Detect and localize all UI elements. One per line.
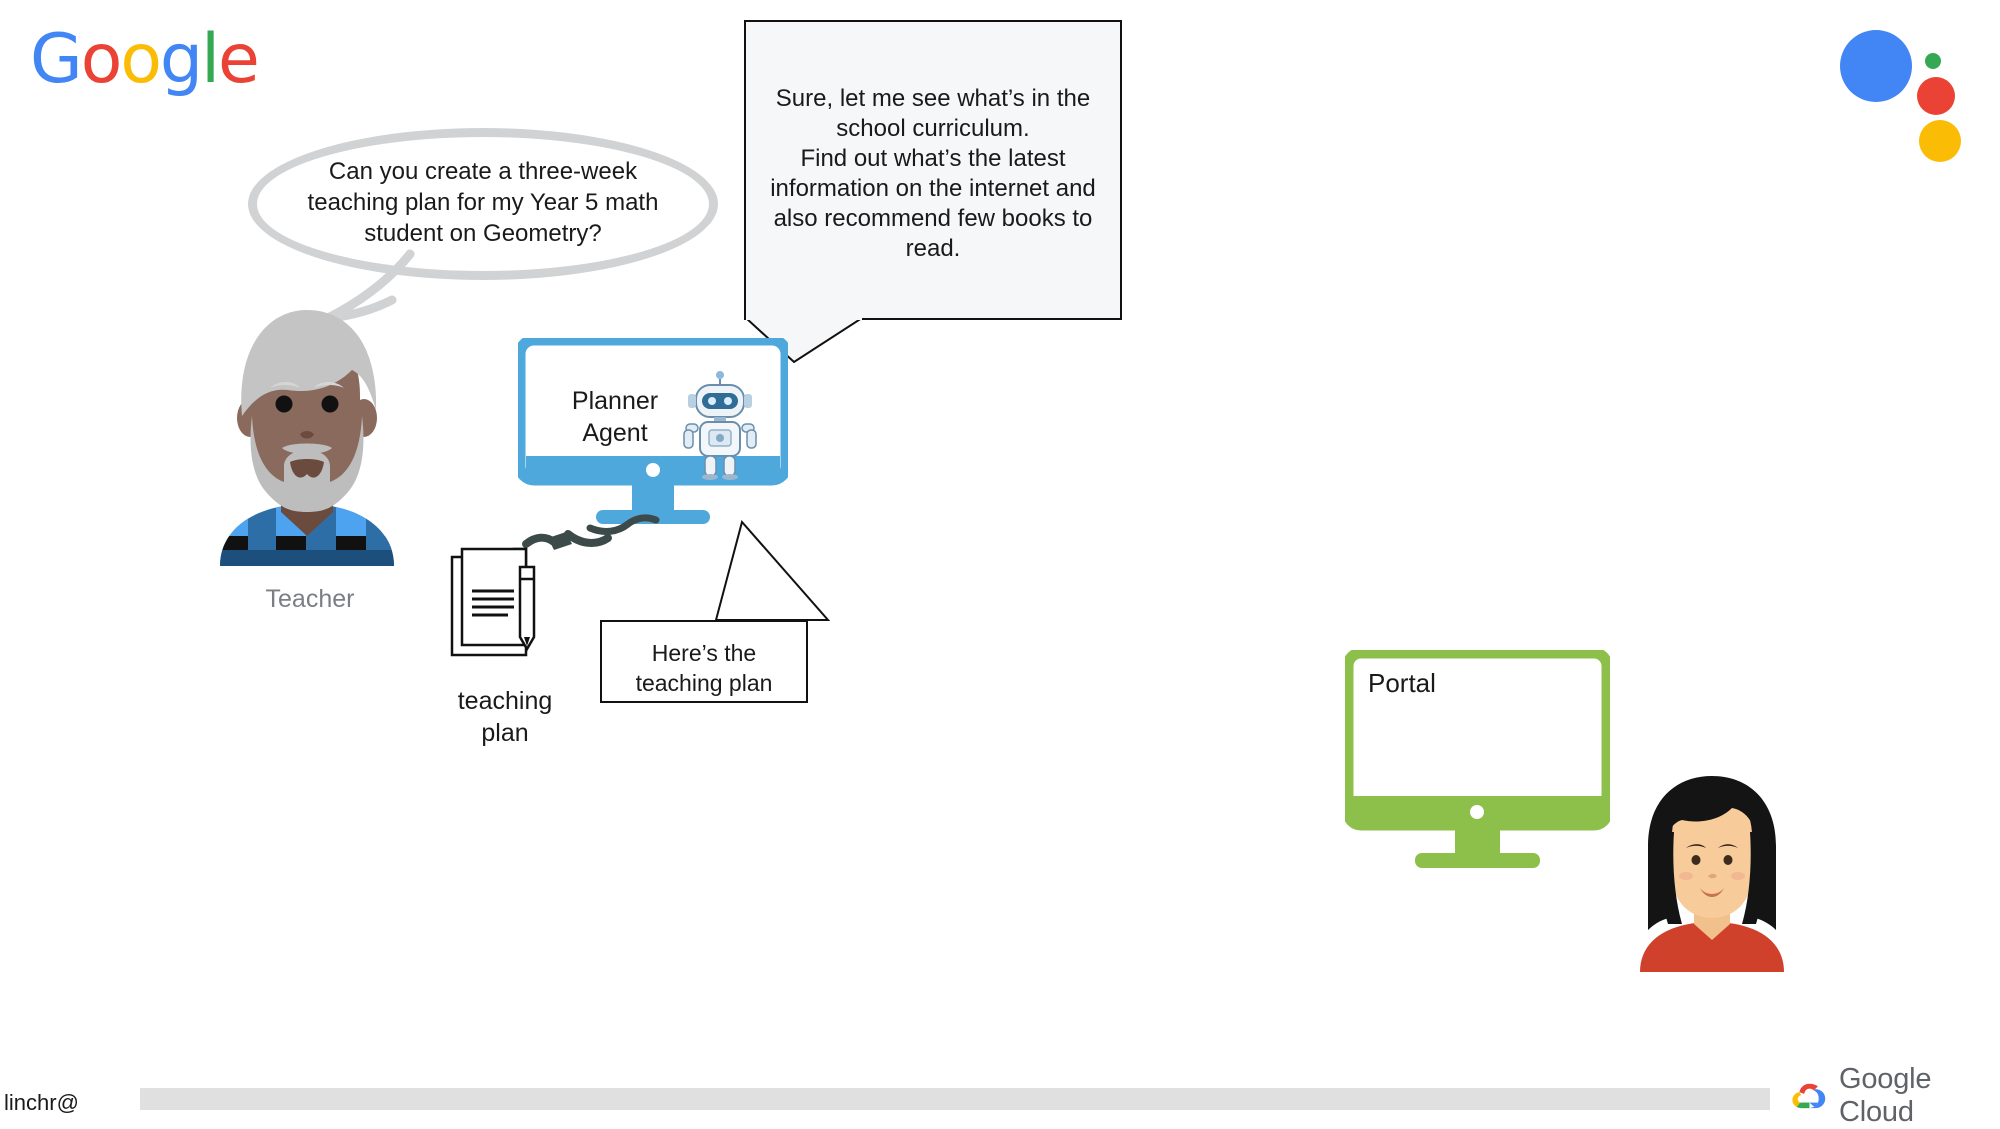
plan-delivery-text: Here’s the teaching plan	[612, 638, 796, 698]
google-assistant-icon	[1835, 25, 1975, 150]
teacher-speech-text: Can you create a three-week teaching pla…	[288, 156, 678, 249]
agent-speech-text: Sure, let me see what’s in the school cu…	[768, 84, 1098, 264]
google-cloud-logo: Google Cloud	[1792, 1076, 1992, 1116]
teaching-plan-label: teaching plan	[415, 685, 595, 749]
footer-username: linchr@	[4, 1090, 79, 1116]
google-cloud-label: Google Cloud	[1839, 1063, 1992, 1129]
agent-speech-bubble: Sure, let me see what’s in the school cu…	[744, 20, 1122, 320]
google-logo-letter-o2: o	[120, 20, 160, 99]
student-avatar	[1638, 772, 1786, 972]
footer-progress-bar	[140, 1088, 1770, 1110]
assistant-red-dot-icon	[1917, 77, 1955, 115]
plan-bubble-tail-icon	[700, 520, 830, 625]
planner-agent-label: Planner Agent	[560, 385, 670, 449]
plan-delivery-bubble: Here’s the teaching plan	[600, 620, 808, 703]
google-logo-letter-o1: o	[81, 20, 121, 99]
google-logo-letter-g2: g	[160, 20, 201, 99]
teacher-avatar	[218, 298, 396, 566]
assistant-yellow-dot-icon	[1919, 120, 1961, 162]
assistant-green-dot-icon	[1925, 53, 1941, 69]
teacher-speech-bubble: Can you create a three-week teaching pla…	[248, 128, 718, 280]
assistant-blue-dot-icon	[1840, 30, 1912, 102]
google-logo-letter-l: l	[201, 20, 218, 99]
google-logo-letter-g1: G	[30, 20, 81, 99]
google-logo: Google	[30, 20, 215, 100]
portal-label: Portal	[1368, 668, 1436, 699]
robot-icon	[680, 370, 760, 480]
teaching-plan-document-icon	[448, 545, 558, 660]
google-cloud-mark-icon	[1792, 1080, 1827, 1112]
google-logo-letter-e: e	[218, 20, 258, 99]
teacher-label: Teacher	[200, 585, 420, 614]
